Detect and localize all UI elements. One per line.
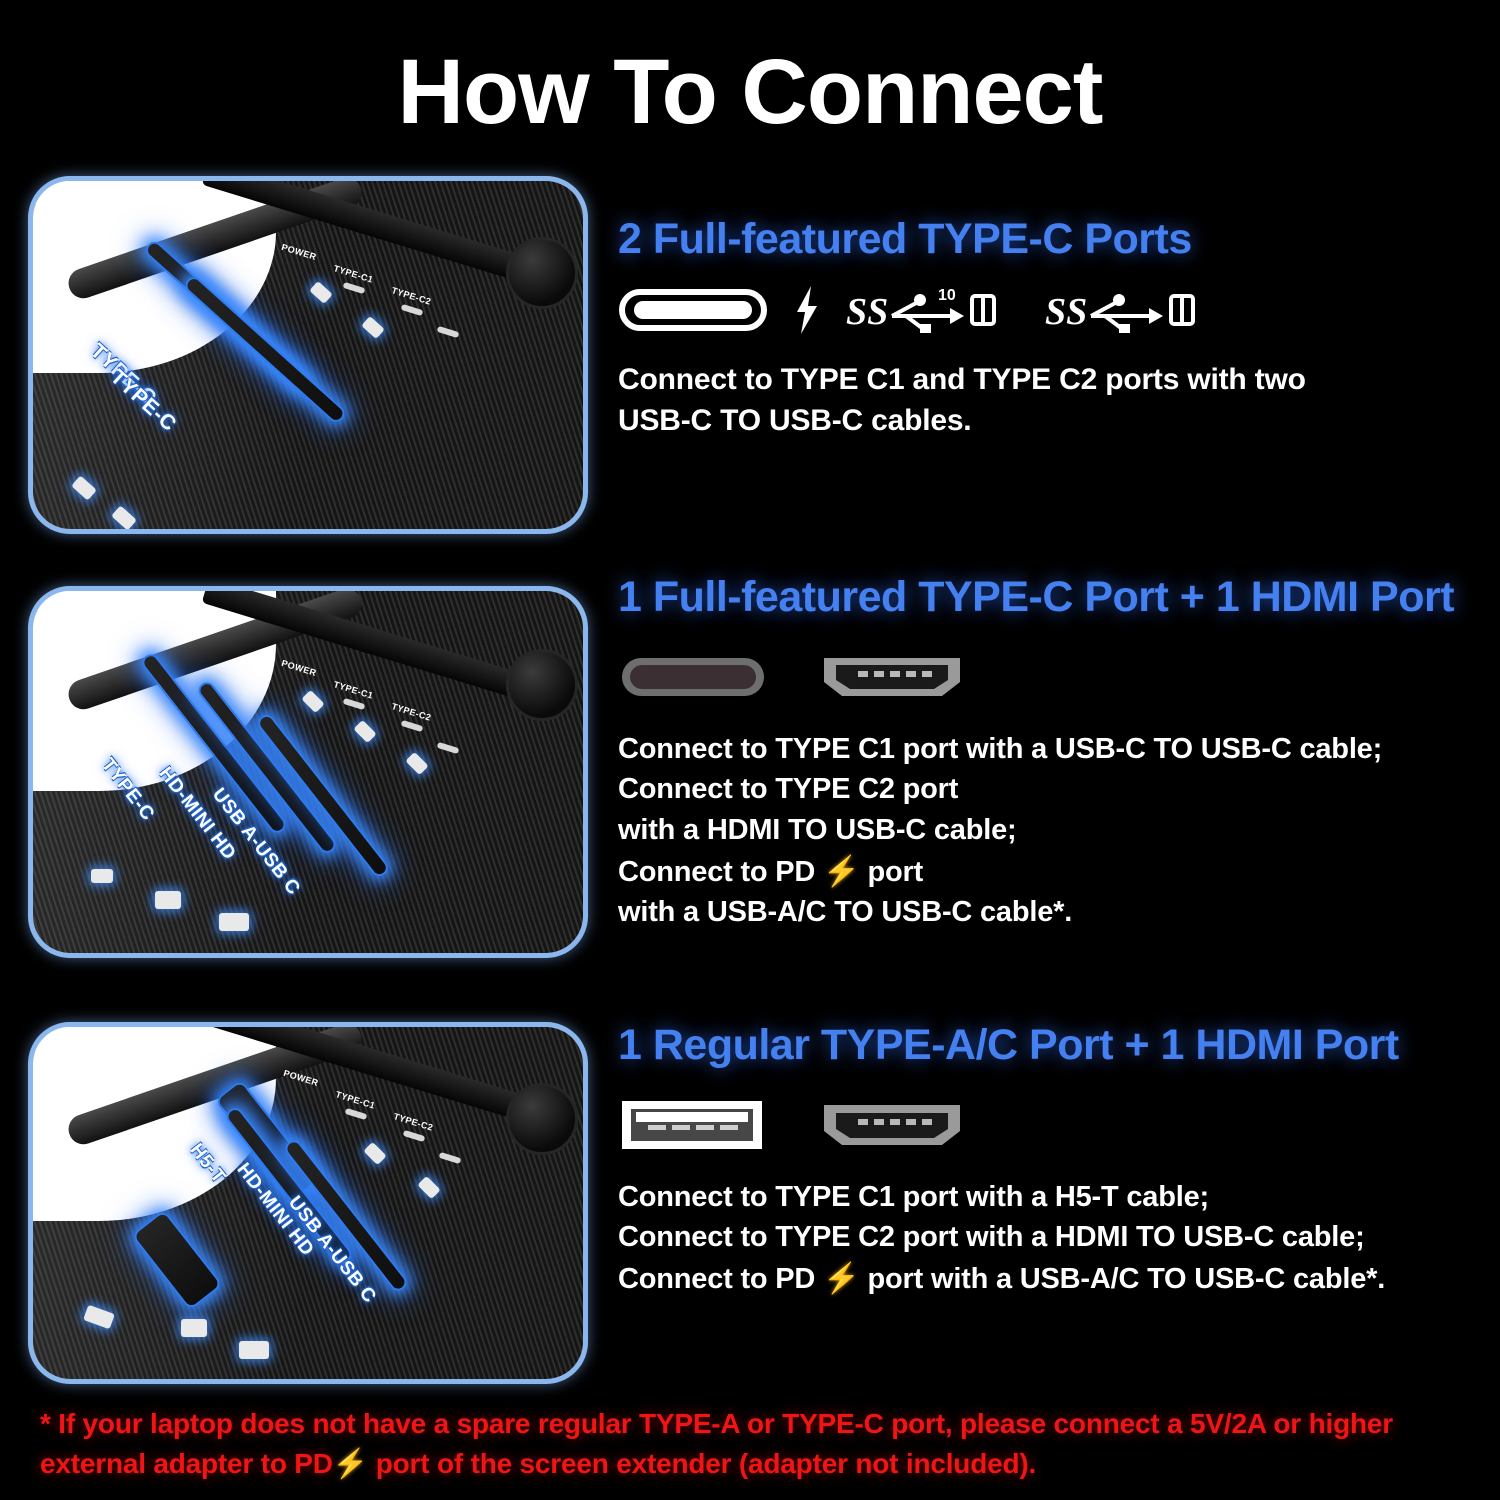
usb-c-port-icon [618,284,768,341]
section-2-icon-row [618,649,1484,711]
usb-a-port-icon [618,1095,766,1160]
section-3-heading-line-2: 1 HDMI Port [1161,1021,1399,1069]
infographic-page: How To Connect POWER TYPE-C1 TYPE-C2 TYP… [0,0,1500,1500]
product-photo-panel-1: POWER TYPE-C1 TYPE-C2 TYPE-C TYPE-C [28,176,588,534]
section-type-c-hdmi: 1 Full-featured TYPE-C Port + 1 HDMI Por… [618,572,1484,933]
superspeed-usb-displayport-icon: SS [1045,284,1215,341]
section-2-body-line-2: Connect to TYPE C2 port [618,769,1484,810]
usb-c-port-gray-icon [618,648,768,711]
section-3-heading-line-1: 1 Regular TYPE-A/C Port + [618,1021,1149,1069]
section-2-body-line-4: Connect to PD ⚡ port [618,851,1484,893]
pd-lightning-bolt-icon: ⚡ [333,1448,368,1480]
svg-text:SS: SS [1045,291,1087,333]
hdmi-port-icon [818,648,966,711]
section-2-body: Connect to TYPE C1 port with a USB-C TO … [618,729,1484,933]
cable-end-plug-usb-a [239,1341,269,1359]
section-2-heading-line-1: 1 Full-featured TYPE-C Port + [618,573,1204,621]
section-2-heading: 1 Full-featured TYPE-C Port + 1 HDMI Por… [618,572,1484,623]
footnote: * If your laptop does not have a spare r… [40,1404,1470,1484]
section-3-body-line-1: Connect to TYPE C1 port with a H5-T cabl… [618,1177,1484,1218]
device-round-knob [506,237,578,309]
section-1-heading-line-1: 2 Full-featured TYPE-C Ports [618,215,1192,263]
section-3-icon-row [618,1097,1484,1159]
lightning-bolt-icon [792,284,822,341]
section-2-body-line-3: with a HDMI TO USB-C cable; [618,810,1484,851]
cable-end-plug-usb-a [219,913,249,931]
pd-lightning-bolt-icon: ⚡ [823,855,860,888]
section-3-body-line-3: Connect to PD ⚡ port with a USB-A/C TO U… [618,1258,1484,1300]
product-photo-panel-2: POWER TYPE-C1 TYPE-C2 TYPE-C HD-MINI HD … [28,586,588,958]
device-round-knob [506,1083,578,1155]
section-type-c-dual: 2 Full-featured TYPE-C Ports SS [618,214,1484,441]
svg-text:10: 10 [938,287,956,304]
section-type-a-hdmi: 1 Regular TYPE-A/C Port + 1 HDMI Port [618,1020,1484,1300]
cable-end-plug-type-c [91,869,113,883]
device-round-knob [506,649,578,721]
section-3-body-line-2: Connect to TYPE C2 port with a HDMI TO U… [618,1217,1484,1258]
cable-end-plug-hd-mini-hd [155,891,181,909]
section-1-heading: 2 Full-featured TYPE-C Ports [618,214,1484,265]
page-title: How To Connect [0,44,1500,141]
product-photo-panel-3: POWER TYPE-C1 TYPE-C2 H5-T HD-MINI HD US… [28,1022,588,1384]
section-2-body-line-1: Connect to TYPE C1 port with a USB-C TO … [618,729,1484,770]
section-1-icon-row: SS 10 [618,285,1484,341]
section-1-body-line-2: USB-C TO USB-C cables. [618,400,1484,441]
section-2-heading-line-2: 1 HDMI Port [1216,573,1454,621]
section-1-body-line-1: Connect to TYPE C1 and TYPE C2 ports wit… [618,359,1484,400]
footnote-line-1: * If your laptop does not have a spare r… [40,1404,1470,1444]
hdmi-port-icon [818,1095,966,1160]
section-2-body-line-5: with a USB-A/C TO USB-C cable*. [618,892,1484,933]
pd-lightning-bolt-icon: ⚡ [823,1262,860,1295]
footnote-line-2: external adapter to PD⚡ port of the scre… [40,1444,1470,1485]
cable-end-plug-hd-mini-hd [181,1319,207,1337]
section-1-body: Connect to TYPE C1 and TYPE C2 ports wit… [618,359,1484,441]
section-3-body: Connect to TYPE C1 port with a H5-T cabl… [618,1177,1484,1300]
superspeed-usb-10-displayport-icon: SS 10 [846,284,1021,341]
svg-text:SS: SS [846,291,888,333]
section-3-heading: 1 Regular TYPE-A/C Port + 1 HDMI Port [618,1020,1484,1071]
